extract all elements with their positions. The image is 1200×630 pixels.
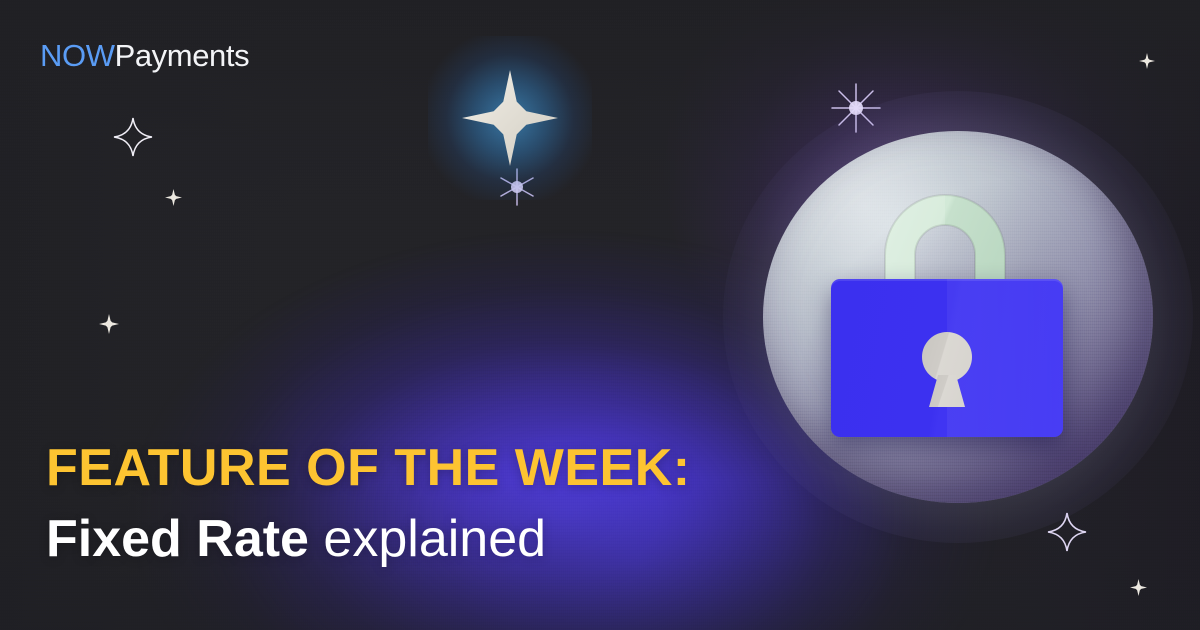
headline-eyebrow: FEATURE OF THE WEEK: (46, 440, 691, 496)
hero-sparkle-icon (462, 70, 558, 166)
headline-title-strong: Fixed Rate (46, 510, 309, 568)
padlock-body (831, 279, 1063, 437)
sparkle-outline-icon (113, 117, 153, 157)
keyhole-icon (919, 331, 975, 409)
headline-block: FEATURE OF THE WEEK: Fixed Rate explaine… (46, 440, 691, 568)
social-card-canvas: NOWPayments FEATURE OF THE WEEK: Fixed R… (0, 0, 1200, 630)
brand-logo[interactable]: NOWPayments (40, 40, 249, 71)
headline-title: Fixed Rate explained (46, 510, 691, 568)
brand-logo-now: NOW (40, 38, 115, 73)
brand-logo-payments: Payments (115, 38, 250, 73)
headline-title-light: explained (309, 510, 546, 568)
open-padlock-sphere-graphic (763, 131, 1153, 503)
